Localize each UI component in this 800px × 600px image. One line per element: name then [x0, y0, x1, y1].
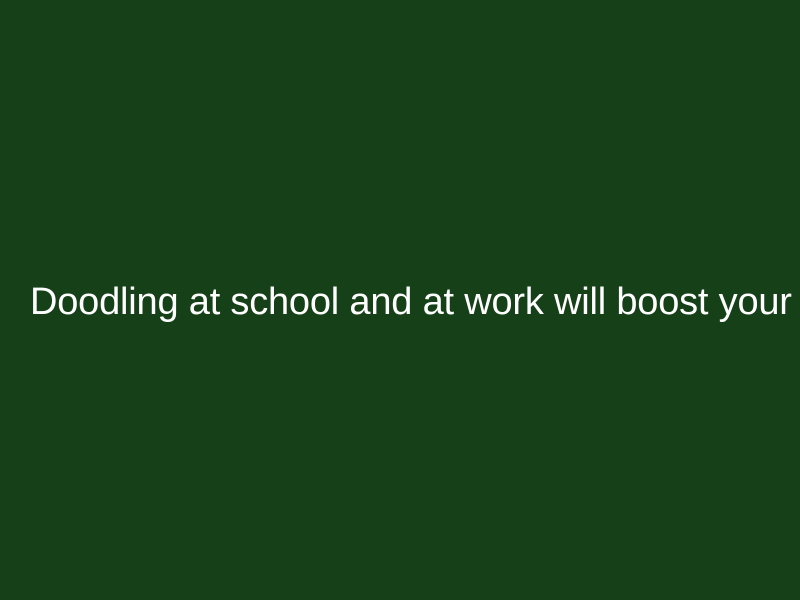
text-card: Doodling at school and at work will boos…: [0, 0, 800, 600]
headline-text: Doodling at school and at work will boos…: [30, 279, 770, 325]
headline-container: Doodling at school and at work will boos…: [30, 279, 770, 325]
